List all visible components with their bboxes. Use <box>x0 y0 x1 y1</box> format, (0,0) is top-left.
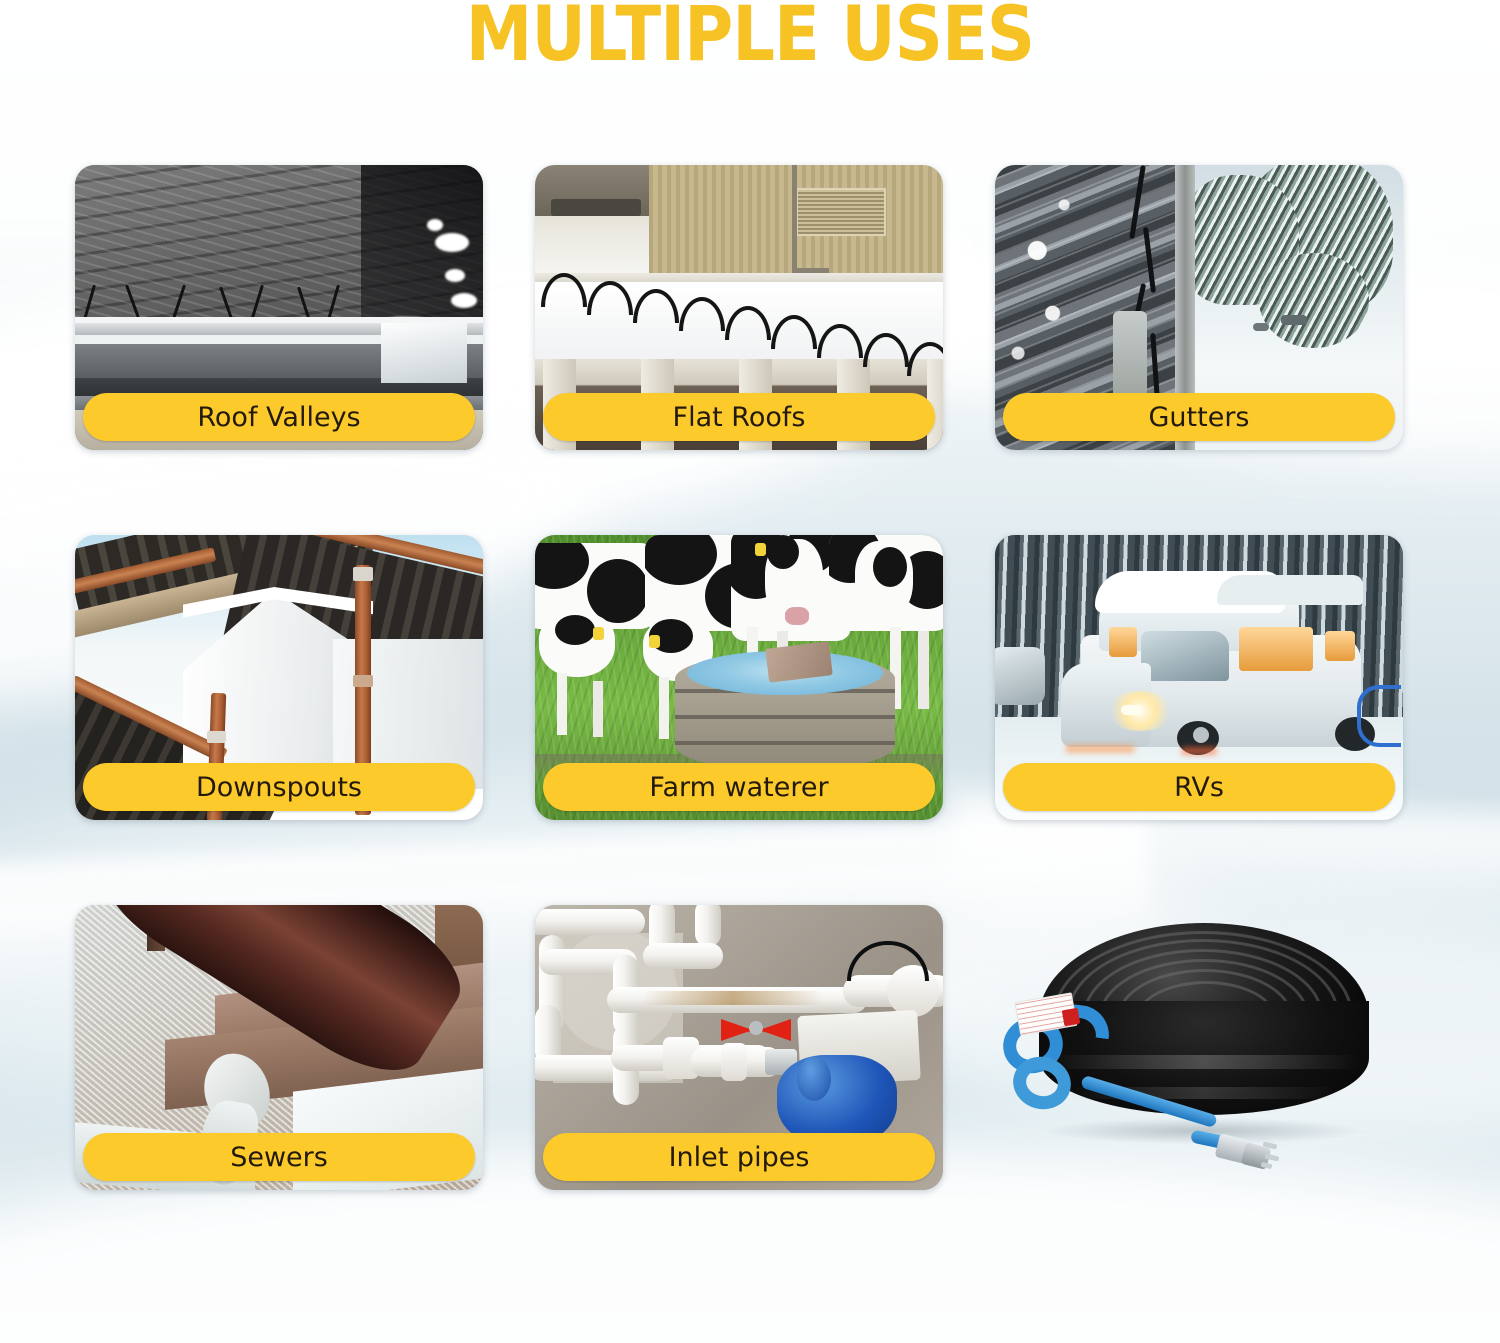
use-card-farm-waterer[interactable]: Farm waterer <box>535 535 943 820</box>
card-caption: Flat Roofs <box>543 393 935 441</box>
cow-patch <box>535 543 589 589</box>
snowflake-icon <box>34 513 54 533</box>
coil-highlight <box>1049 1055 1359 1069</box>
cow-leg <box>659 677 669 739</box>
downspout-clamp <box>353 675 373 687</box>
snowflake-icon <box>14 556 25 567</box>
cow-leg <box>557 673 567 735</box>
tag-red-marker <box>1062 1008 1081 1027</box>
snowflake-icon <box>40 345 49 354</box>
cow-muzzle <box>785 607 809 625</box>
snow-patch <box>435 233 469 252</box>
snowy-bush <box>1259 253 1369 348</box>
card-caption: RVs <box>1003 763 1395 811</box>
ear-tag <box>593 627 604 640</box>
ear-tag <box>649 635 660 648</box>
louver-vent <box>796 188 886 236</box>
pipe-run <box>551 199 641 216</box>
cow-patch <box>555 615 595 645</box>
cow-head <box>855 541 913 621</box>
rv-roof-line <box>1217 575 1363 605</box>
use-card-sewers[interactable]: Sewers <box>75 905 483 1190</box>
rv-windshield <box>1141 631 1229 681</box>
cow-patch <box>587 559 649 623</box>
use-card-inlet-pipes[interactable]: Inlet pipes <box>535 905 943 1190</box>
pvc-pipe <box>535 909 645 935</box>
rv-window-lit <box>1109 627 1137 657</box>
cow-patch <box>873 547 907 587</box>
blue-hose <box>1357 685 1401 747</box>
wheel-hub <box>1193 727 1209 743</box>
snowflake-icon <box>4 418 34 448</box>
trough-band <box>675 715 895 719</box>
valve-nut <box>749 1021 763 1035</box>
pvc-pipe <box>643 943 723 969</box>
product-photo <box>995 905 1403 1190</box>
rv-window-lit <box>1239 627 1313 671</box>
product-image[interactable] <box>995 905 1403 1190</box>
use-card-downspouts[interactable]: Downspouts <box>75 535 483 820</box>
cow-patch <box>767 535 799 569</box>
downspout-clamp <box>207 731 226 743</box>
cow-head <box>539 613 615 677</box>
debris <box>1281 315 1307 325</box>
snowflake-icon <box>1430 300 1448 318</box>
pipe-rust-stain <box>643 991 823 1005</box>
use-card-roof-valleys[interactable]: Roof Valleys <box>75 165 483 450</box>
card-caption: Gutters <box>1003 393 1395 441</box>
snow-patch <box>427 219 443 231</box>
trough-band <box>675 741 895 745</box>
pipe-coupler <box>721 1043 747 1081</box>
use-card-flat-roofs[interactable]: Flat Roofs <box>535 165 943 450</box>
uses-grid: Roof Valleys Fl <box>75 165 1423 1190</box>
snowflake-icon <box>58 515 70 527</box>
card-caption: Farm waterer <box>543 763 935 811</box>
page-title: MULTIPLE USES <box>90 0 1410 74</box>
debris <box>1253 323 1269 331</box>
ground-light-reflection <box>1181 747 1217 755</box>
valve-flange <box>797 1057 831 1101</box>
snowflake-icon <box>30 360 52 382</box>
card-caption: Sewers <box>83 1133 475 1181</box>
ear-tag <box>755 543 766 556</box>
snowflake-icon <box>1458 330 1486 358</box>
use-card-gutters[interactable]: Gutters <box>995 165 1403 450</box>
cow-patch <box>645 535 717 585</box>
snow-on-gutter <box>381 323 467 383</box>
pipe-elbow <box>792 268 829 273</box>
card-caption: Roof Valleys <box>83 393 475 441</box>
parked-vehicle <box>995 647 1045 705</box>
downspout-pipe <box>792 165 797 279</box>
cow-leg <box>593 681 603 737</box>
card-caption: Inlet pipes <box>543 1133 935 1181</box>
ground-light-reflection <box>1065 745 1135 753</box>
downspout-clamp <box>353 567 373 581</box>
use-card-rvs[interactable]: RVs <box>995 535 1403 820</box>
snow-patch <box>451 293 477 308</box>
rv-window-lit <box>1325 631 1355 661</box>
cow-head <box>765 539 823 627</box>
snowflake-icon <box>1468 286 1480 298</box>
headlight-core <box>1121 705 1143 715</box>
snow-patch <box>445 269 465 282</box>
pvc-pipe <box>695 905 721 947</box>
card-caption: Downspouts <box>83 763 475 811</box>
cow-leg <box>918 631 929 709</box>
